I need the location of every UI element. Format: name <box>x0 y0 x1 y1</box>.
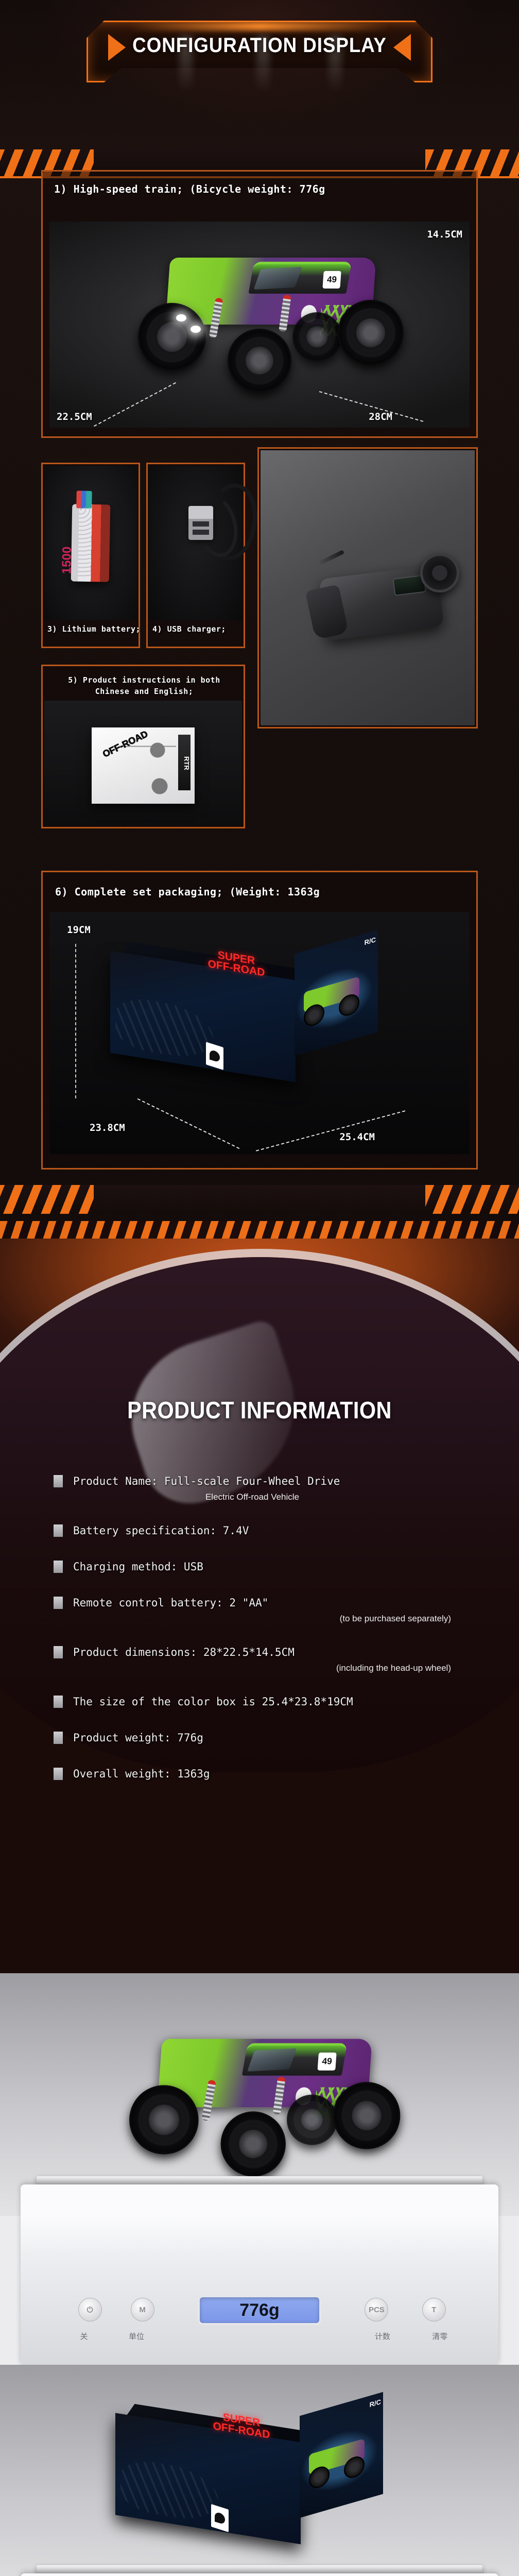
headlight <box>176 314 186 321</box>
manual-rtr-badge: RTR <box>178 735 191 790</box>
steering-wheel <box>420 553 459 592</box>
product-information-section: PRODUCT INFORMATION Product Name: Full-s… <box>0 1221 519 1973</box>
hazard-stripes-left <box>0 1185 94 1214</box>
hazard-strip <box>0 1221 519 1239</box>
spec-text: Product dimensions: 28*22.5*14.5CM <box>73 1645 476 1660</box>
scale-display: 776g <box>198 2295 321 2325</box>
wheel <box>129 2085 199 2155</box>
headlight <box>191 326 201 333</box>
scale-weighing-plate <box>37 2176 483 2184</box>
box-car-artwork <box>296 959 373 1038</box>
spec-text: Product weight: 776g <box>73 1730 476 1745</box>
bullet-icon <box>54 1597 63 1609</box>
car-depth-dimension: 22.5CM <box>57 411 92 422</box>
scale-pcs-button[interactable]: PCS <box>365 2298 388 2321</box>
lithium-battery: 1500 <box>71 504 111 582</box>
dimension-dash-line <box>75 944 76 1098</box>
wheel <box>138 303 206 371</box>
manual-photo: OFF-ROAD RTR <box>44 701 242 825</box>
configuration-title-banner: CONFIGURATION DISPLAY <box>86 21 432 82</box>
spec-text: Charging method: USB <box>73 1559 476 1574</box>
box-width-dimension: 25.4CM <box>339 1131 375 1143</box>
battery-capacity-label: 1500 <box>60 547 75 574</box>
spec-item: Product weight: 776g <box>54 1730 476 1745</box>
car-race-number: 49 <box>322 271 341 289</box>
item-3-label: 3) Lithium battery; <box>47 624 141 634</box>
flame-graphic <box>120 2457 218 2524</box>
car-length-dimension: 28CM <box>369 411 392 422</box>
item-4-label: 4) USB charger; <box>152 624 226 634</box>
box-height-dimension: 19CM <box>67 924 91 936</box>
spec-text: Overall weight: 1363g <box>73 1766 476 1782</box>
spec-item: The size of the color box is 25.4*23.8*1… <box>54 1694 476 1709</box>
wheel <box>338 300 404 366</box>
scale-unit-button[interactable]: M <box>131 2298 154 2321</box>
wheel <box>221 2111 286 2176</box>
car-window <box>253 267 302 290</box>
wheel <box>287 2095 337 2145</box>
instruction-manual: OFF-ROAD RTR <box>92 727 195 804</box>
bullet-icon <box>54 1561 63 1573</box>
box-side-face: R/C <box>300 2392 383 2518</box>
battery-photo: 1500 <box>44 466 137 620</box>
spec-subtext: (to be purchased separately) <box>54 1614 476 1624</box>
item-1-label: 1) High-speed train; (Bicycle weight: 77… <box>54 183 325 195</box>
antenna <box>319 550 344 565</box>
bullet-icon <box>54 1768 63 1780</box>
bullet-icon <box>54 1646 63 1658</box>
rc-car-on-scale: 49 <box>115 2020 404 2174</box>
car-race-number: 49 <box>318 2053 337 2071</box>
page-title: CONFIGURATION DISPLAY <box>100 34 419 57</box>
item-5-label: 5) Product instructions in both Chinese … <box>52 674 236 697</box>
bullet-icon <box>54 1524 63 1537</box>
item-6-label: 6) Complete set packaging; (Weight: 1363… <box>55 886 320 898</box>
box-rc-logo: R/C <box>365 936 376 946</box>
bullet-icon <box>54 1696 63 1708</box>
dimension-dash-line <box>137 1098 240 1149</box>
spec-item: Remote control battery: 2 "AA" (to be pu… <box>54 1595 476 1624</box>
spec-item: Battery specification: 7.4V <box>54 1523 476 1538</box>
wheel <box>292 312 342 362</box>
box-depth-dimension: 23.8CM <box>90 1122 125 1133</box>
flame-graphic <box>115 995 213 1062</box>
car-height-dimension: 14.5CM <box>427 229 462 240</box>
spec-item: Product dimensions: 28*22.5*14.5CM (incl… <box>54 1645 476 1673</box>
remote-control-photo <box>261 450 475 725</box>
box-icon-badge <box>211 2504 229 2532</box>
bullet-icon <box>54 1475 63 1487</box>
spec-text: Battery specification: 7.4V <box>73 1523 476 1538</box>
box-car-artwork <box>301 2421 378 2500</box>
section-title: PRODUCT INFORMATION <box>26 1396 493 1424</box>
car-window <box>247 2048 297 2072</box>
scale-power-button[interactable]: ⏻ <box>78 2298 102 2321</box>
spec-subtext: (including the head-up wheel) <box>54 1663 476 1673</box>
scale-unit-label: 单位 <box>121 2331 152 2342</box>
spec-item: Charging method: USB <box>54 1559 476 1574</box>
digital-scale-body: ⏻ 关 M 单位 1363g PCS 计数 T 清零 <box>21 2573 498 2576</box>
product-listing-page: CONFIGURATION DISPLAY 1) High-speed trai… <box>0 0 519 2576</box>
spec-subtext: Electric Off-road Vehicle <box>54 1492 476 1502</box>
scale-tare-button[interactable]: T <box>422 2298 446 2321</box>
scale-pcs-label: 计数 <box>367 2331 398 2342</box>
spec-item: Product Name: Full-scale Four-Wheel Driv… <box>54 1473 476 1502</box>
scale-power-label: 关 <box>68 2331 99 2342</box>
scale-photo-car: 49 ⏻ 关 M 单位 776g PCS 计数 T 清零 <box>0 1973 519 2365</box>
car-photo: 49 14.5CM 22.5CM 28CM <box>49 222 470 428</box>
configuration-display-section: CONFIGURATION DISPLAY 1) High-speed trai… <box>0 0 519 1221</box>
packaging-photo: 19CM R/C SUPER OFF- <box>49 912 470 1154</box>
wheel <box>333 2082 401 2149</box>
hazard-stripes-right <box>425 1185 519 1214</box>
box-rc-logo: R/C <box>370 2398 381 2409</box>
battery-texture <box>78 507 92 579</box>
scale-photo-box: R/C SUPER OFF-ROAD ⏻ 关 M 单位 1363g PCS 计数… <box>0 2365 519 2576</box>
spec-text: Remote control battery: 2 "AA" <box>73 1595 476 1611</box>
scale-weighing-plate <box>37 2565 483 2573</box>
box-icon-badge <box>206 1042 223 1070</box>
spec-text: The size of the color box is 25.4*23.8*1… <box>73 1694 476 1709</box>
retail-box: R/C SUPER OFF-ROAD <box>110 939 378 1067</box>
retail-box-on-scale: R/C SUPER OFF-ROAD <box>95 2396 424 2566</box>
digital-scale-body: ⏻ 关 M 单位 776g PCS 计数 T 清零 <box>21 2184 498 2365</box>
spec-text: Product Name: Full-scale Four-Wheel Driv… <box>73 1473 476 1489</box>
dimension-dash-line <box>256 1110 405 1151</box>
scale-tare-label: 清零 <box>424 2331 455 2342</box>
specification-list: Product Name: Full-scale Four-Wheel Driv… <box>54 1473 476 1802</box>
rc-car-illustration: 49 <box>127 237 405 407</box>
usb-plug-icon <box>188 506 213 540</box>
spec-item: Overall weight: 1363g <box>54 1766 476 1782</box>
battery-wires <box>76 491 92 509</box>
hazard-stripe-bar-bottom <box>0 1185 519 1214</box>
bullet-icon <box>54 1732 63 1744</box>
wheel <box>228 329 291 393</box>
usb-charger-photo <box>149 466 242 620</box>
box-side-face: R/C <box>295 930 378 1056</box>
